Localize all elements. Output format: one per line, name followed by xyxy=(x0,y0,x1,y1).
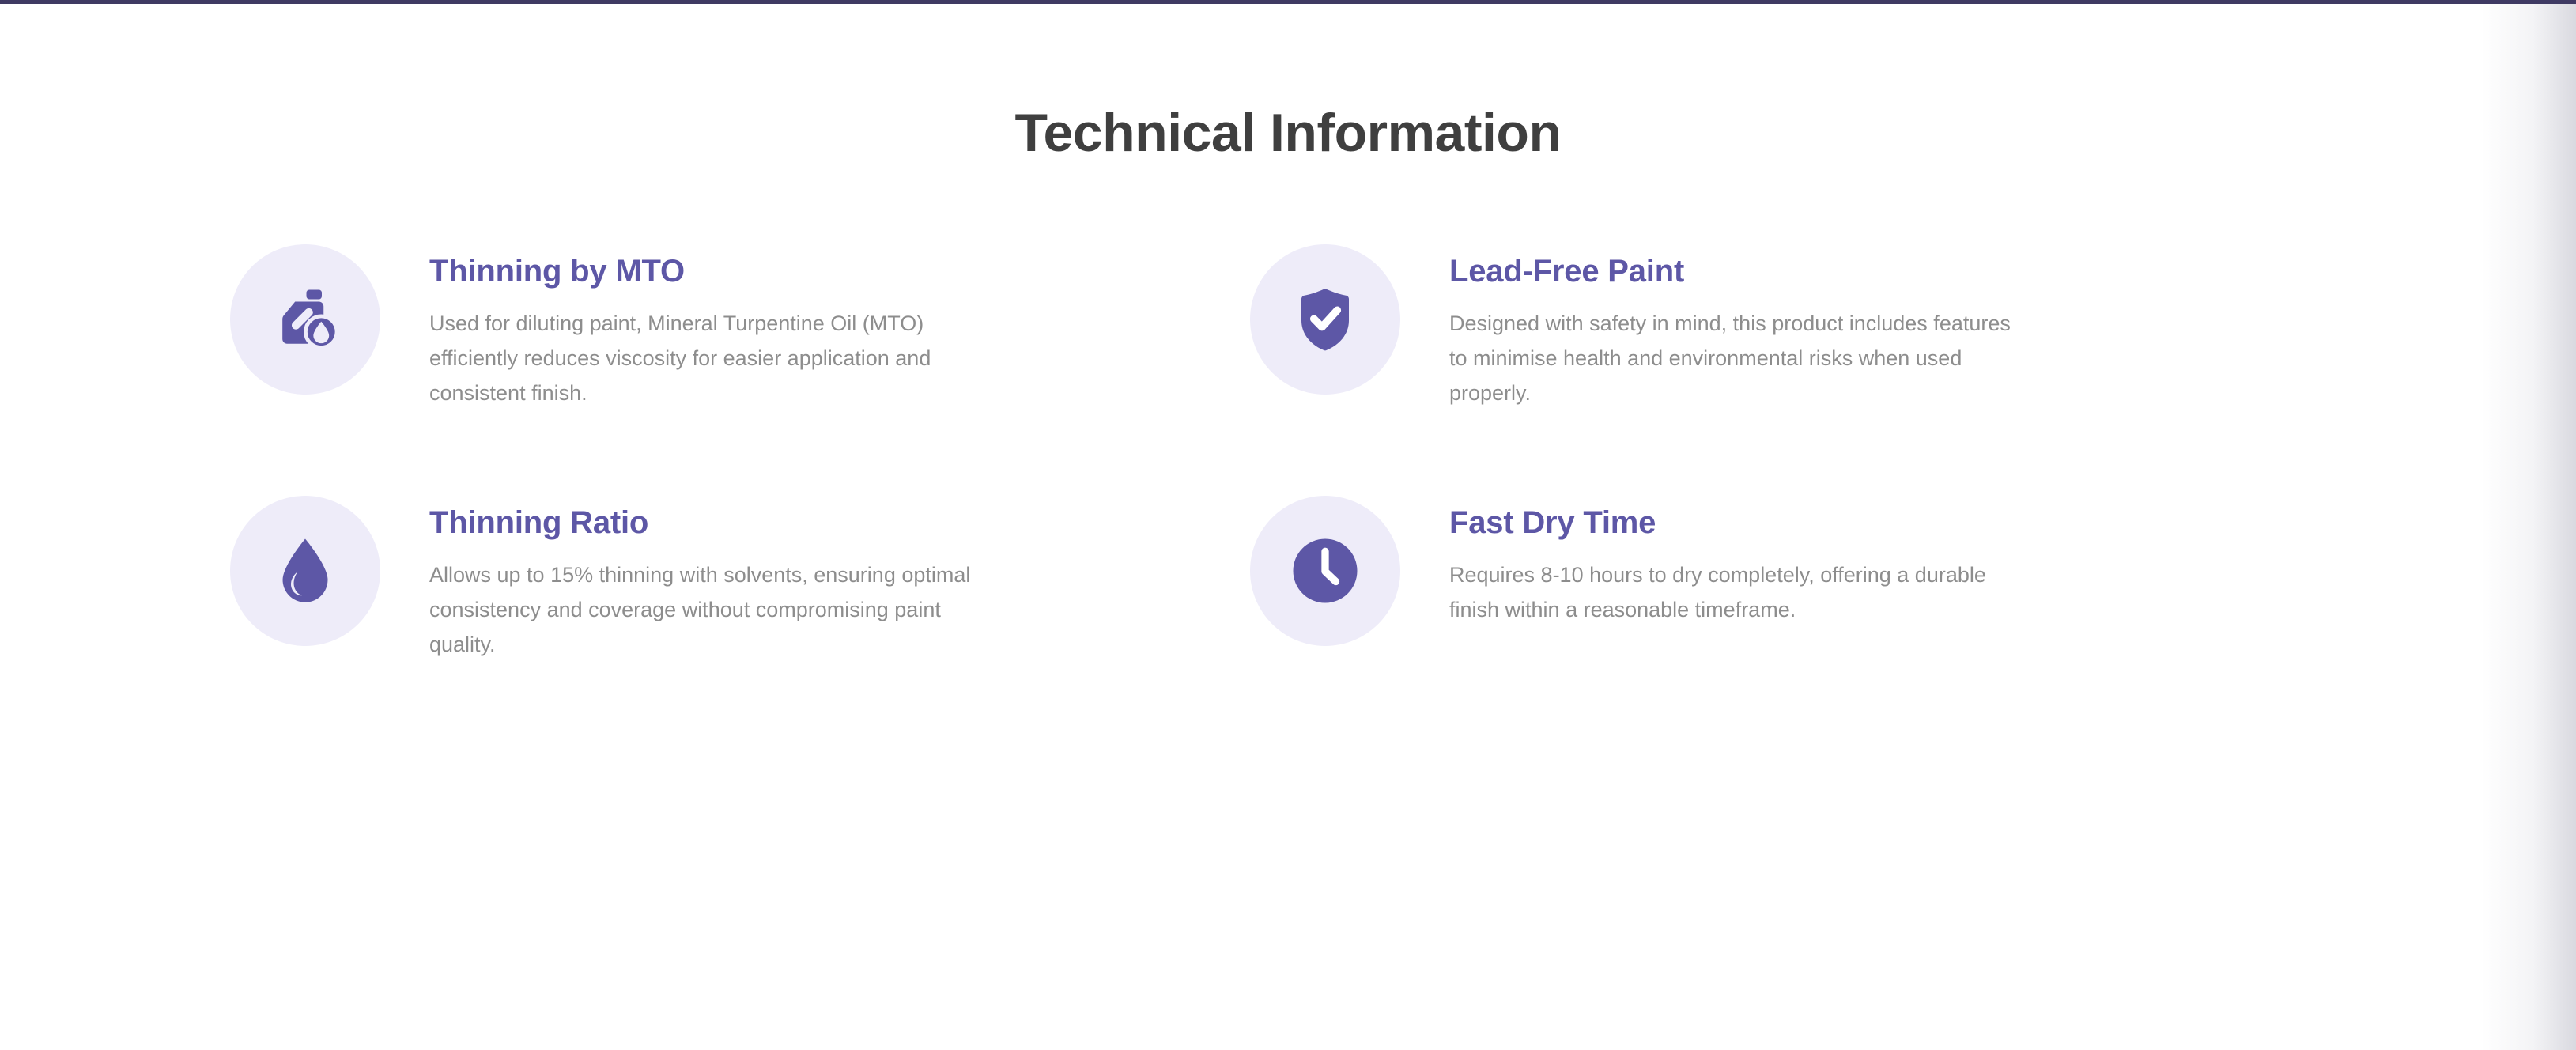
clock-icon xyxy=(1250,496,1400,646)
browser-viewport: Technical Information xyxy=(0,0,2576,1050)
feature-text-block: Thinning Ratio Allows up to 15% thinning… xyxy=(380,493,992,662)
feature-text-block: Fast Dry Time Requires 8-10 hours to dry… xyxy=(1400,493,2012,627)
feature-title: Thinning Ratio xyxy=(429,504,992,541)
feature-description: Allows up to 15% thinning with solvents,… xyxy=(429,558,992,662)
page-title: Technical Information xyxy=(221,103,2355,163)
feature-card-thinning-by-mto: Thinning by MTO Used for diluting paint,… xyxy=(230,242,1250,410)
feature-card-lead-free-paint: Lead-Free Paint Designed with safety in … xyxy=(1250,242,2270,410)
page-content: Technical Information xyxy=(0,4,2576,1050)
technical-information-section: Technical Information xyxy=(221,4,2355,663)
feature-card-thinning-ratio: Thinning Ratio Allows up to 15% thinning… xyxy=(230,493,1250,662)
feature-grid: Thinning by MTO Used for diluting paint,… xyxy=(221,242,2355,662)
shield-check-icon xyxy=(1250,244,1400,395)
jerrycan-oil-icon xyxy=(230,244,380,395)
feature-description: Requires 8-10 hours to dry completely, o… xyxy=(1449,558,2012,627)
water-droplet-icon xyxy=(230,496,380,646)
feature-title: Lead-Free Paint xyxy=(1449,253,2012,289)
feature-card-fast-dry-time: Fast Dry Time Requires 8-10 hours to dry… xyxy=(1250,493,2270,662)
feature-title: Fast Dry Time xyxy=(1449,504,2012,541)
feature-description: Used for diluting paint, Mineral Turpent… xyxy=(429,307,992,410)
feature-text-block: Thinning by MTO Used for diluting paint,… xyxy=(380,242,992,410)
feature-description: Designed with safety in mind, this produ… xyxy=(1449,307,2012,410)
top-accent-bar xyxy=(0,0,2576,4)
feature-title: Thinning by MTO xyxy=(429,253,992,289)
feature-text-block: Lead-Free Paint Designed with safety in … xyxy=(1400,242,2012,410)
